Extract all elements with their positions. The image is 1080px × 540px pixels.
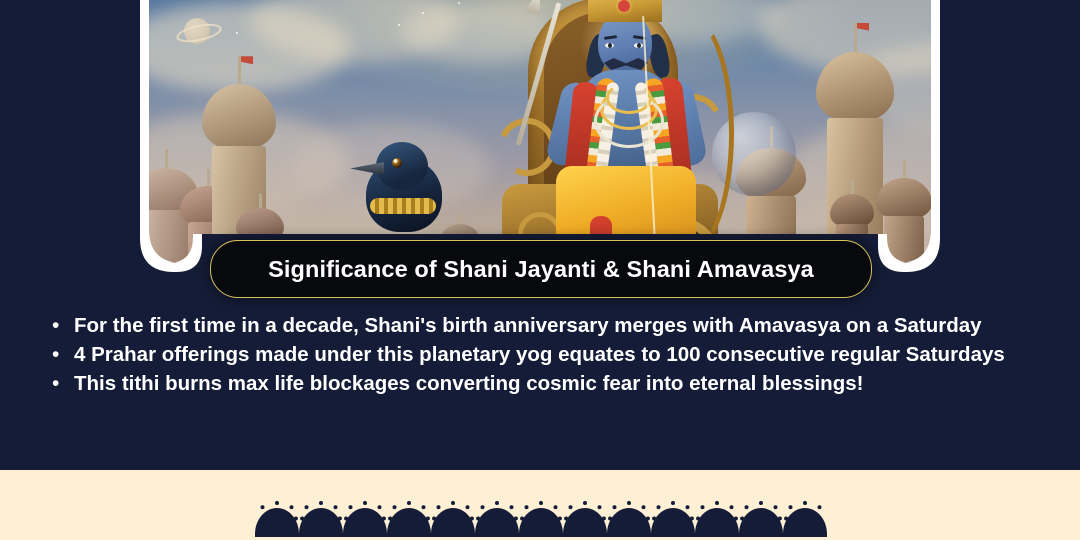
section-title-text: Significance of Shani Jayanti & Shani Am…	[268, 256, 814, 283]
section-title-badge: Significance of Shani Jayanti & Shani Am…	[210, 240, 872, 298]
list-item: • 4 Prahar offerings made under this pla…	[52, 341, 1042, 368]
shani-deity-figure	[532, 0, 722, 278]
bullet-list: • For the first time in a decade, Shani'…	[52, 312, 1042, 399]
list-item-text: For the first time in a decade, Shani's …	[74, 312, 982, 339]
bullet-marker-icon: •	[52, 370, 74, 397]
list-item: • For the first time in a decade, Shani'…	[52, 312, 1042, 339]
bullet-marker-icon: •	[52, 341, 74, 368]
list-item: • This tithi burns max life blockages co…	[52, 370, 1042, 397]
scalloped-arch-decoration	[255, 488, 827, 540]
list-item-text: 4 Prahar offerings made under this plane…	[74, 341, 1005, 368]
crow-vahana	[348, 136, 458, 232]
bullet-marker-icon: •	[52, 312, 74, 339]
poster-canvas: Significance of Shani Jayanti & Shani Am…	[0, 0, 1080, 540]
list-item-text: This tithi burns max life blockages conv…	[74, 370, 863, 397]
